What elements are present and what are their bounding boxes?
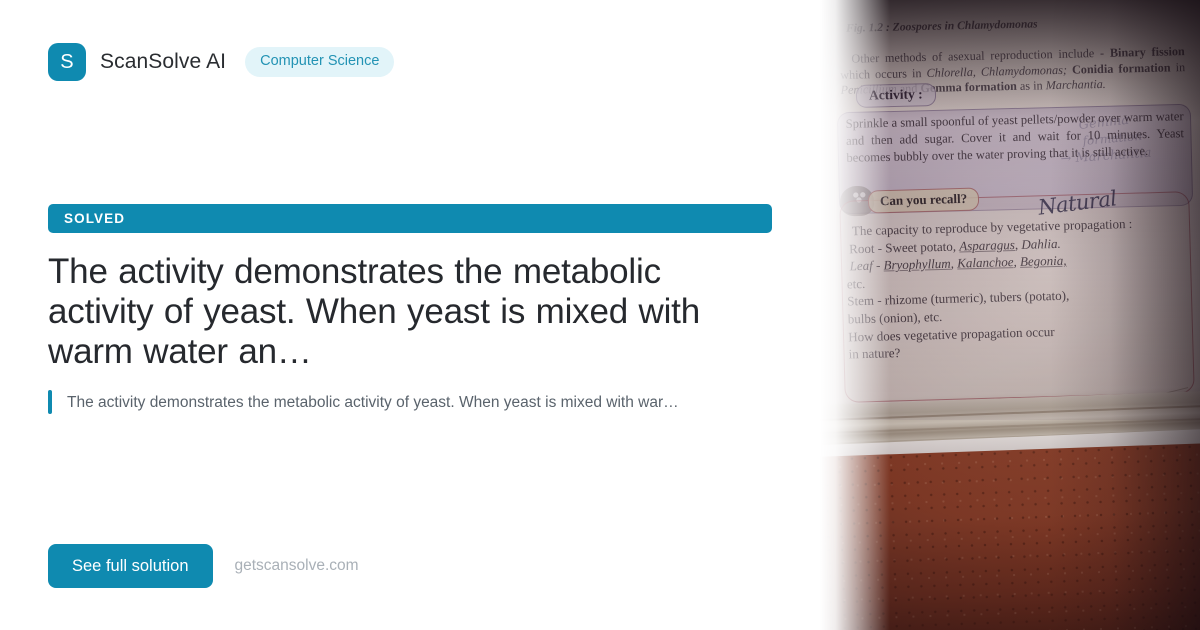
see-full-solution-button[interactable]: See full solution <box>48 544 213 588</box>
recall-title: Can you recall? <box>868 187 980 213</box>
subject-badge: Computer Science <box>245 47 394 77</box>
status-label: SOLVED <box>64 211 125 226</box>
textbook-photo: Fig. 1.2 : Zoospores in Chlamydomonas Fi… <box>820 0 1200 630</box>
table-texture <box>820 443 1200 630</box>
recall-text: The capacity to reproduce by vegetative … <box>845 214 1189 364</box>
status-badge: SOLVED <box>48 204 772 233</box>
content-panel: S ScanSolve AI Computer Science SOLVED T… <box>0 0 822 630</box>
excerpt-accent-bar <box>48 390 52 414</box>
activity-text: Sprinkle a small spoonful of yeast pelle… <box>845 108 1184 166</box>
excerpt-row: The activity demonstrates the metabolic … <box>48 390 772 414</box>
page-title: The activity demonstrates the metabolic … <box>48 252 772 372</box>
excerpt-text: The activity demonstrates the metabolic … <box>67 390 679 414</box>
activity-title: Activity : <box>856 83 936 108</box>
photo-inner: Fig. 1.2 : Zoospores in Chlamydomonas Fi… <box>820 0 1200 630</box>
footer-row: See full solution getscansolve.com <box>48 542 772 590</box>
question-block: SOLVED The activity demonstrates the met… <box>48 76 772 542</box>
site-url: getscansolve.com <box>235 557 359 575</box>
share-card: Fig. 1.2 : Zoospores in Chlamydomonas Fi… <box>0 0 1200 630</box>
table-surface <box>820 443 1200 630</box>
brand-name: ScanSolve AI <box>100 50 226 74</box>
